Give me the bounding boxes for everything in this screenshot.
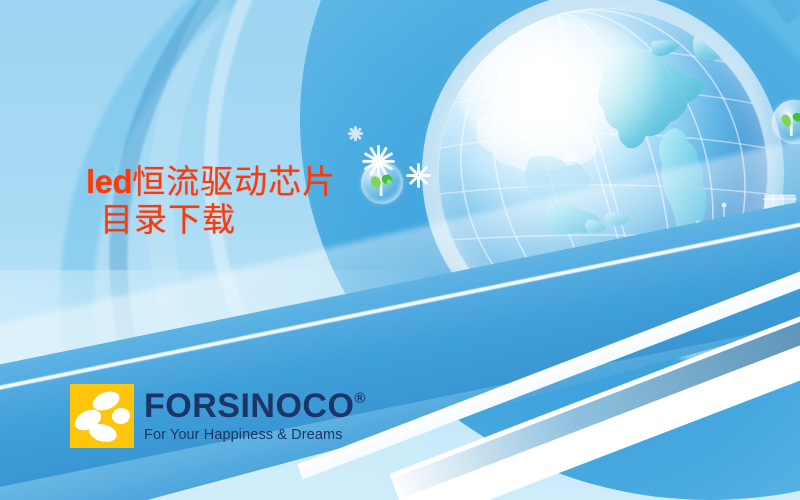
- headline-line-1: led恒流驱动芯片: [86, 163, 336, 201]
- headline-line-2: 目录下载: [86, 201, 336, 239]
- headline-latin-part: led: [86, 163, 132, 200]
- banner-canvas: led恒流驱动芯片 目录下载 FORSINOCO ® For Your Happ…: [0, 0, 800, 500]
- sparkle-flower-icon: [361, 128, 395, 162]
- bubble-with-sprout-icon: [361, 162, 403, 204]
- registered-trademark-icon: ®: [354, 391, 366, 406]
- headline-cjk-part: 恒流驱动芯片: [132, 162, 336, 201]
- four-petal-flower-icon: [70, 384, 134, 448]
- sparkle-flower-icon-tiny: [347, 118, 363, 134]
- logo-tagline: For Your Happiness & Dreams: [144, 427, 366, 443]
- logo-wordmark: FORSINOCO ® For Your Happiness & Dreams: [144, 389, 366, 443]
- sprout-icon-3: [780, 108, 800, 136]
- sprout-icon: [369, 170, 396, 197]
- logo-name-row: FORSINOCO ®: [144, 389, 366, 423]
- flower-petals-glyph: [70, 384, 134, 448]
- page-title: led恒流驱动芯片 目录下载: [86, 163, 336, 238]
- sparkle-flower-icon-small: [405, 150, 431, 176]
- logo-name-text: FORSINOCO: [144, 389, 354, 423]
- brand-logo[interactable]: FORSINOCO ® For Your Happiness & Dreams: [70, 384, 366, 448]
